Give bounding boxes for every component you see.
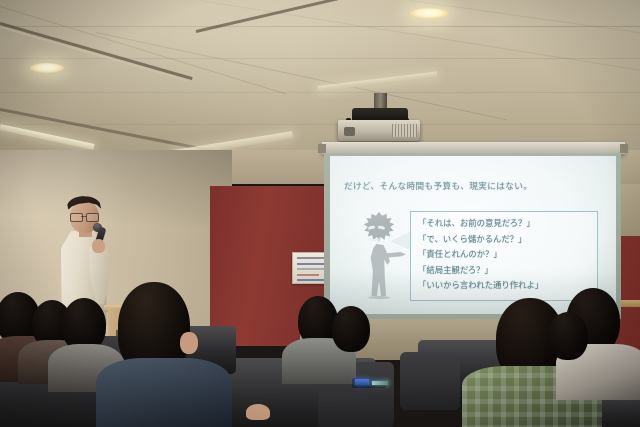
devil-body (368, 244, 390, 296)
screen-housing-cap-left (318, 144, 326, 153)
presenter-glasses (70, 213, 97, 220)
audience-shoulders-4 (96, 358, 232, 427)
devil-ground-shadow (368, 296, 390, 299)
audience-head-6 (332, 306, 370, 352)
devil-arm (386, 252, 406, 259)
devil-sun-head (362, 212, 396, 246)
speech-bubble-tail (392, 232, 411, 250)
devil-character-illustration (356, 212, 408, 300)
speech-bubble-text: 「それは、お前の意見だろ？」 「で、いくら儲かるんだ？」 「責任とれんのか？」 … (418, 216, 594, 294)
audience-head-9 (548, 312, 588, 360)
audience-hand-4 (180, 332, 198, 354)
presentation-photo: だけど、そんな時間も予算も、現実にはない。 「それは、お前の意見だろ？」 「で、… (0, 0, 640, 427)
recessed-downlight-right (409, 8, 449, 19)
device-secondary-glow (372, 381, 388, 385)
presenter-hand (92, 239, 105, 253)
screen-housing-cap-right (620, 144, 628, 153)
laptop-screen-glow (355, 379, 369, 385)
bubble-line-1: 「それは、お前の意見だろ？」 (418, 216, 594, 232)
projector-vent (392, 124, 417, 137)
slide-headline: だけど、そんな時間も予算も、現実にはない。 (344, 180, 532, 192)
audience-hand-4b (246, 404, 270, 420)
sofa-arm-right (400, 352, 460, 410)
devil-mouth (369, 234, 380, 241)
projection-screen: だけど、そんな時間も予算も、現実にはない。 「それは、お前の意見だろ？」 「で、… (330, 156, 616, 314)
recessed-downlight-left (30, 63, 64, 73)
bubble-line-4: 「結局主観だろ？」 (418, 263, 594, 279)
bubble-line-3: 「責任とれんのか？」 (418, 247, 594, 263)
bubble-line-2: 「で、いくら儲かるんだ？」 (418, 232, 594, 248)
projector-lens (344, 127, 355, 136)
bubble-line-5: 「いいから言われた通り作れよ」 (418, 278, 594, 294)
